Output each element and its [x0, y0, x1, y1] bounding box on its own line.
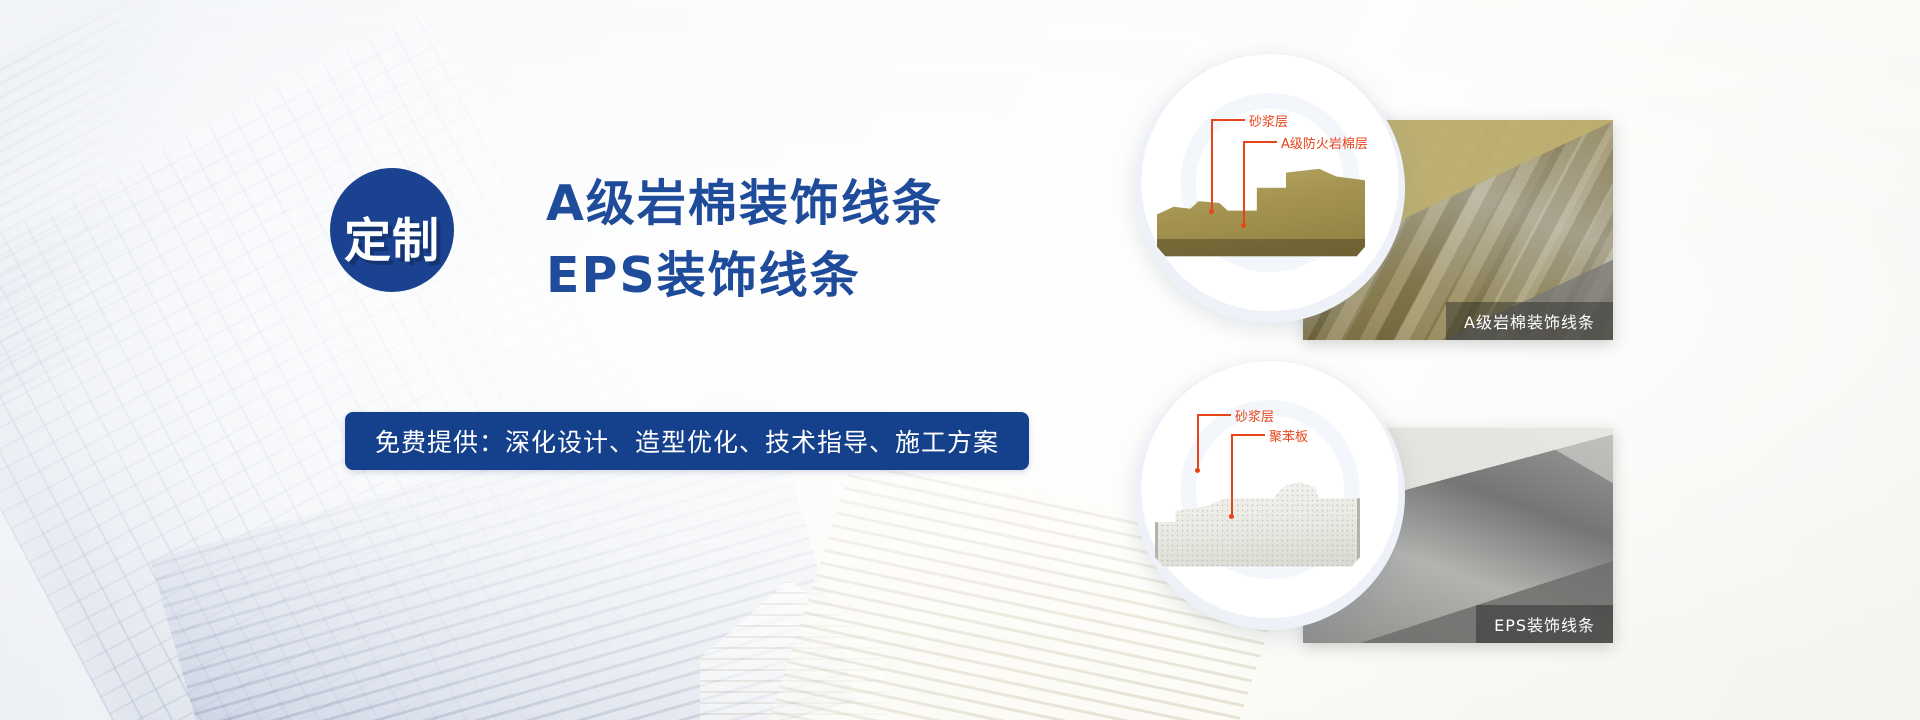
leader-line-mortar-eps-horizontal — [1197, 414, 1231, 416]
custom-badge: 定制 — [330, 168, 454, 292]
services-info-bar: 免费提供：深化设计、造型优化、技术指导、施工方案 — [345, 412, 1029, 470]
leader-line-eps-board-horizontal — [1231, 434, 1265, 436]
diagram-label-mortar-eps: 砂浆层 — [1235, 406, 1274, 425]
leader-dot-mortar-eps — [1195, 468, 1200, 473]
leader-line-mortar-eps-vertical — [1197, 414, 1199, 472]
rock-wool-cross-section-edge — [1157, 165, 1365, 260]
custom-badge-label: 定制 — [344, 202, 440, 271]
leader-dot-mortar — [1209, 209, 1214, 214]
diagram-label-eps-board: 聚苯板 — [1269, 426, 1308, 445]
leader-line-wool-horizontal — [1243, 141, 1277, 143]
product-caption-rock-wool: A级岩棉装饰线条 — [1446, 302, 1613, 340]
diagram-label-wool: A级防火岩棉层 — [1281, 133, 1368, 152]
diagram-circle-rock-wool: 砂浆层 A级防火岩棉层 — [1135, 53, 1405, 323]
leader-line-mortar-vertical — [1211, 119, 1213, 213]
services-info-bar-text: 免费提供：深化设计、造型优化、技术指导、施工方案 — [375, 423, 999, 459]
leader-line-mortar-horizontal — [1211, 119, 1245, 121]
headline-line-2: EPS装饰线条 — [546, 240, 943, 312]
leader-line-eps-board-vertical — [1231, 434, 1233, 518]
leader-dot-wool — [1241, 223, 1246, 228]
product-caption-eps: EPS装饰线条 — [1476, 605, 1613, 643]
eps-cross-section-texture — [1155, 478, 1360, 570]
leader-dot-eps-board — [1229, 514, 1234, 519]
promo-banner: 定制 A级岩棉装饰线条 EPS装饰线条 免费提供：深化设计、造型优化、技术指导、… — [0, 0, 1920, 720]
diagram-label-mortar-rock-wool: 砂浆层 — [1249, 111, 1288, 130]
diagram-circle-eps: 砂浆层 聚苯板 — [1135, 360, 1405, 630]
product-card-rock-wool: A级岩棉装饰线条 砂浆层 A级防火岩棉层 — [1135, 45, 1615, 345]
leader-line-wool-vertical — [1243, 141, 1245, 227]
headline-line-1: A级岩棉装饰线条 — [546, 168, 943, 240]
headline-group: A级岩棉装饰线条 EPS装饰线条 — [546, 168, 943, 312]
product-card-eps: EPS装饰线条 砂浆层 聚苯板 — [1135, 360, 1615, 680]
banner-copy-block: 定制 A级岩棉装饰线条 EPS装饰线条 免费提供：深化设计、造型优化、技术指导、… — [0, 0, 1100, 720]
